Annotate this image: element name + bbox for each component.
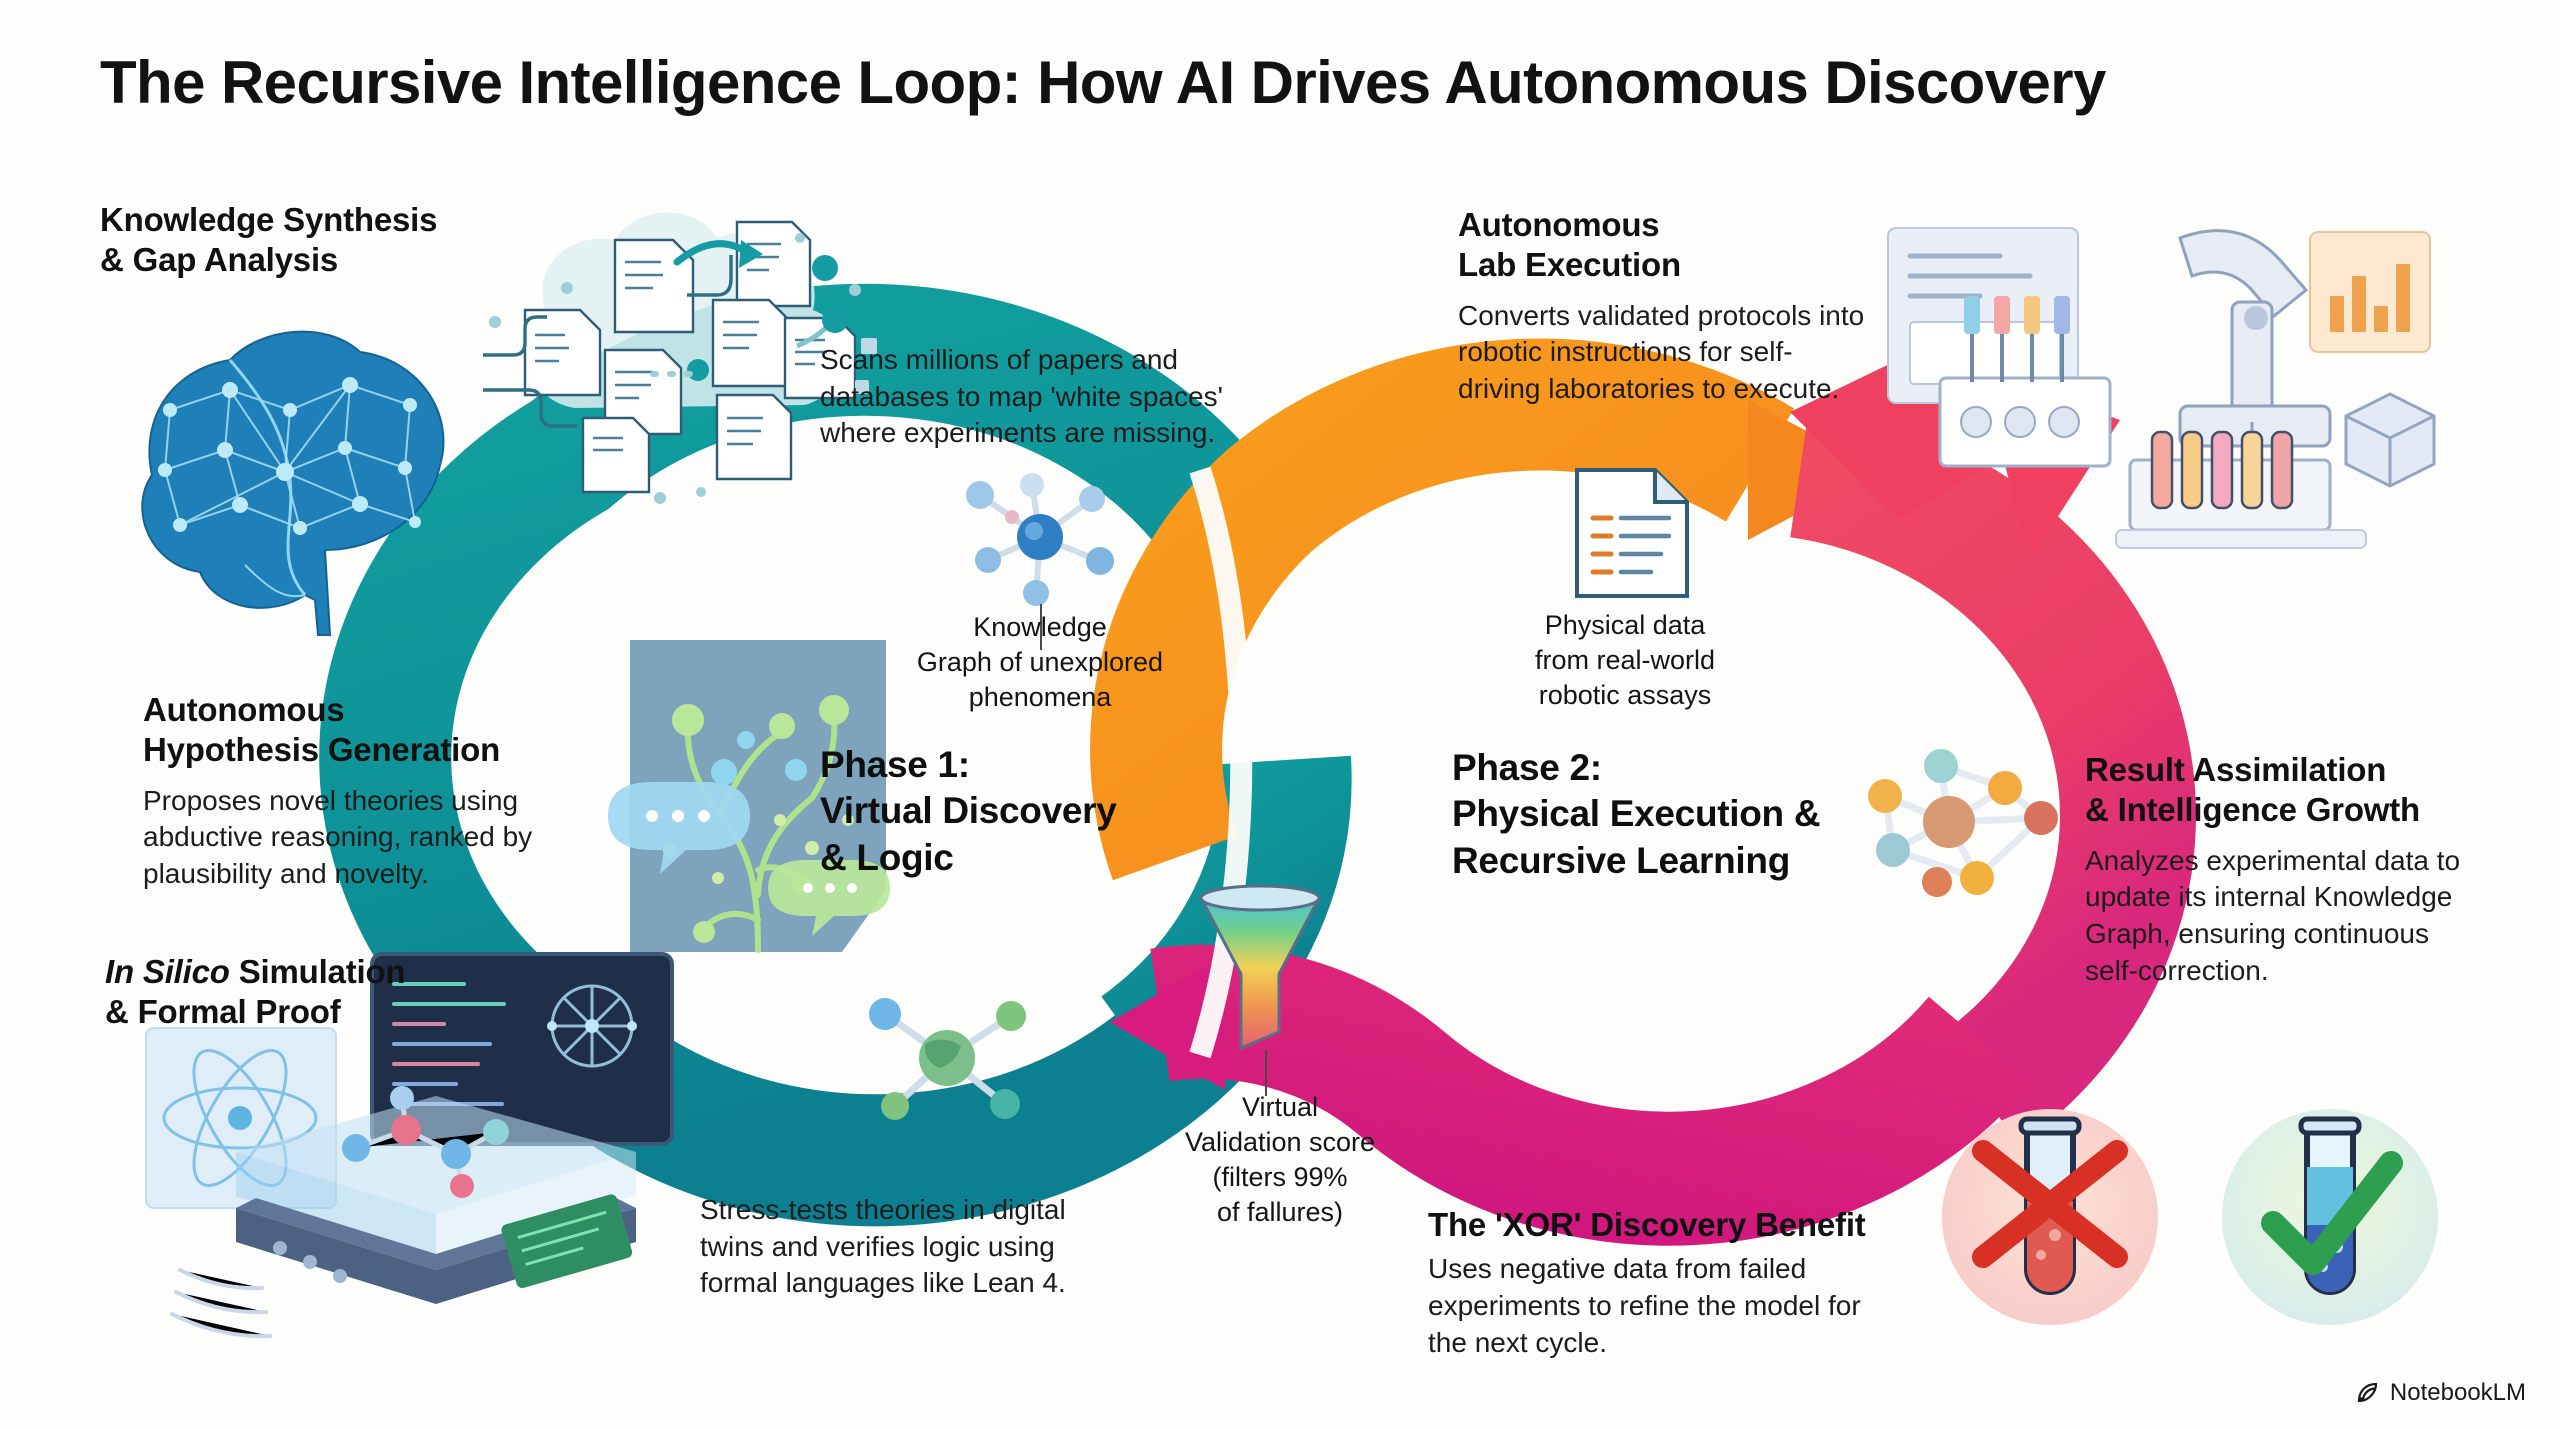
phase1-caption-line-2: Graph of unexplored — [890, 645, 1190, 680]
phase2-caption-line-2: from real-world — [1470, 643, 1780, 678]
notebooklm-watermark: NotebookLM — [2355, 1379, 2526, 1407]
autonomous-lab-body: Converts validated protocols into roboti… — [1458, 298, 1868, 408]
pink-loop-arc — [1790, 330, 2128, 1090]
robotic-lab-icon — [1880, 210, 2470, 580]
in-silico-body: Stress-tests theories in digital twins a… — [700, 1192, 1120, 1302]
xor-heading: The 'XOR' Discovery Benefit — [1428, 1206, 1866, 1243]
funnel-caption-line-2: Validation score — [1130, 1125, 1430, 1160]
block-in-silico: In Silico Simulation & Formal Proof — [105, 952, 535, 1033]
phase2-title-line-1: Phase 2: — [1452, 745, 1842, 791]
in-silico-heading-italic: In Silico — [105, 953, 230, 990]
knowledge-graph-icon — [940, 465, 1140, 615]
notebooklm-logo-icon — [2355, 1380, 2381, 1406]
infographic-canvas: The Recursive Intelligence Loop: How AI … — [0, 0, 2560, 1429]
knowledge-synthesis-heading-2: & Gap Analysis — [100, 241, 338, 278]
in-silico-heading-2: & Formal Proof — [105, 993, 341, 1030]
block-knowledge-synthesis: Knowledge Synthesis & Gap Analysis — [100, 200, 520, 281]
funnel-caption-line-3: (filters 99% — [1130, 1160, 1430, 1195]
hypothesis-body: Proposes novel theories using abductive … — [143, 783, 543, 893]
block-xor-benefit: The 'XOR' Discovery Benefit Uses negativ… — [1428, 1205, 1898, 1361]
xor-body: Uses negative data from failed experimen… — [1428, 1251, 1888, 1361]
hypothesis-heading-1: Autonomous — [143, 691, 344, 728]
phase1-title-line-1: Phase 1: — [820, 742, 1160, 788]
in-silico-heading-rest: Simulation — [230, 953, 406, 990]
phase1-title-line-2: Virtual Discovery — [820, 788, 1160, 834]
page-title: The Recursive Intelligence Loop: How AI … — [100, 48, 2520, 117]
result-assimilation-heading-2: & Intelligence Growth — [2085, 791, 2420, 828]
block-autonomous-lab: Autonomous Lab Execution Converts valida… — [1458, 205, 1888, 408]
failed-test-tube-icon — [1935, 1105, 2165, 1335]
knowledge-synthesis-heading-1: Knowledge Synthesis — [100, 201, 437, 238]
phase2-caption-line-3: robotic assays — [1470, 678, 1780, 713]
phase2-title: Phase 2: Physical Execution & Recursive … — [1452, 745, 1842, 884]
phase1-title: Phase 1: Virtual Discovery & Logic — [820, 742, 1160, 881]
funnel-caption-line-4: of fallures) — [1130, 1195, 1430, 1230]
hypothesis-heading-2: Hypothesis Generation — [143, 731, 500, 768]
phase2-title-line-2: Physical Execution & — [1452, 791, 1842, 837]
result-assimilation-body: Analyzes experimental data to update its… — [2085, 843, 2475, 990]
result-assimilation-heading-1: Result Assimilation — [2085, 751, 2386, 788]
funnel-caption: Virtual Validation score (filters 99% of… — [1130, 1090, 1430, 1230]
phase2-title-line-3: Recursive Learning — [1452, 838, 1842, 884]
autonomous-lab-heading-2: Lab Execution — [1458, 246, 1681, 283]
molecule-globe-icon — [855, 978, 1040, 1138]
knowledge-synthesis-body: Scans millions of papers and databases t… — [820, 342, 1270, 452]
phase1-caption: Knowledge Graph of unexplored phenomena — [890, 610, 1190, 715]
watermark-label: NotebookLM — [2390, 1379, 2526, 1407]
funnel-caption-line-1: Virtual — [1130, 1090, 1430, 1125]
result-graph-icon — [1845, 730, 2065, 920]
block-result-assimilation: Result Assimilation & Intelligence Growt… — [2085, 750, 2485, 989]
phase2-caption-line-1: Physical data — [1470, 608, 1780, 643]
protocol-document-icon — [1555, 462, 1715, 602]
phase1-caption-line-1: Knowledge — [890, 610, 1190, 645]
passed-test-tube-icon — [2215, 1105, 2445, 1335]
phase1-caption-line-3: phenomena — [890, 680, 1190, 715]
autonomous-lab-heading-1: Autonomous — [1458, 206, 1659, 243]
phase1-title-line-3: & Logic — [820, 835, 1160, 881]
brain-network-icon — [110, 300, 490, 640]
block-hypothesis-generation: Autonomous Hypothesis Generation Propose… — [143, 690, 563, 893]
phase2-caption: Physical data from real-world robotic as… — [1470, 608, 1780, 713]
funnel-filter-icon — [1185, 880, 1335, 1060]
